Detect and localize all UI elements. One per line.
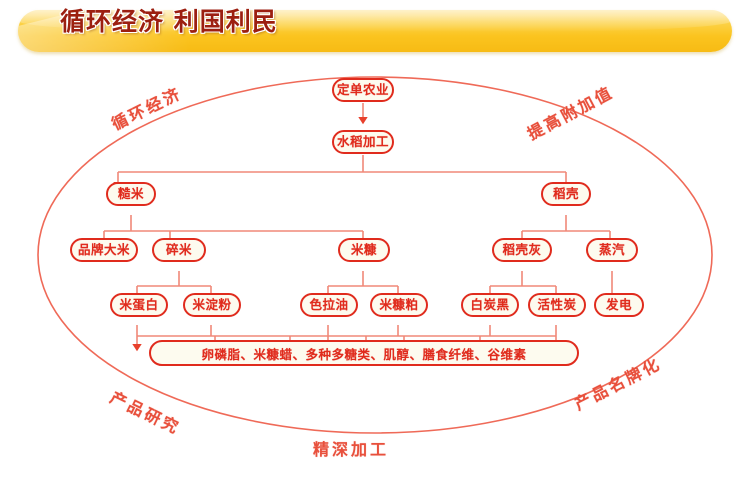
node-rice-starch[interactable]: 米淀粉	[183, 293, 241, 317]
node-brand-rice[interactable]: 品牌大米	[70, 238, 138, 262]
node-brown-rice[interactable]: 糙米	[106, 182, 156, 206]
node-activated-carbon[interactable]: 活性炭	[528, 293, 586, 317]
node-rice-bran[interactable]: 米糠	[338, 238, 390, 262]
node-rice-protein[interactable]: 米蛋白	[110, 293, 168, 317]
node-bran-meal[interactable]: 米糠粕	[370, 293, 428, 317]
node-salad-oil[interactable]: 色拉油	[300, 293, 358, 317]
page-title: 循环经济 利国利民	[60, 6, 278, 38]
poster-canvas: 循环经济 利国利民	[0, 0, 750, 481]
node-steam[interactable]: 蒸汽	[586, 238, 638, 262]
node-broken-rice[interactable]: 碎米	[152, 238, 206, 262]
node-order-agriculture[interactable]: 定单农业	[332, 78, 394, 102]
node-husk-ash[interactable]: 稻壳灰	[492, 238, 552, 262]
node-white-carbon-black[interactable]: 白炭黑	[461, 293, 519, 317]
node-rice-husk[interactable]: 稻壳	[541, 182, 591, 206]
node-rice-processing[interactable]: 水稻加工	[332, 130, 394, 154]
caption-bottom-center: 精深加工	[313, 436, 389, 460]
node-power-generation[interactable]: 发电	[594, 293, 644, 317]
summary-bar-derived-products[interactable]: 卵磷脂、米糠蜡、多种多糖类、肌醇、膳食纤维、谷维素	[149, 340, 579, 366]
